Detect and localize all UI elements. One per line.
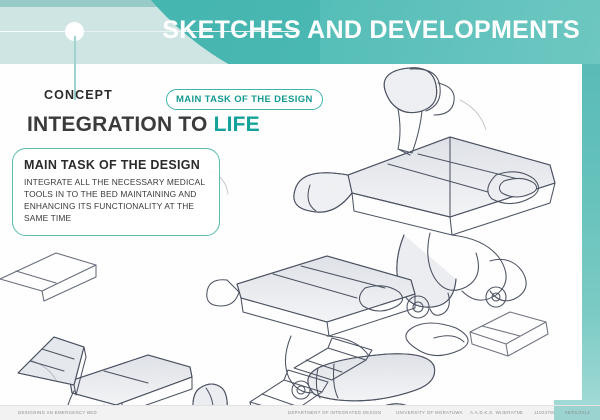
slide-footer: DESIGNING AN EMERGENCY BED DEPARTMENT OF…: [0, 405, 600, 420]
concept-title: INTEGRATION TO LIFE: [27, 113, 260, 137]
footer-date: 06/01/2014: [565, 410, 590, 415]
info-box-heading: MAIN TASK OF THE DESIGN: [24, 158, 208, 172]
main-task-badge: MAIN TASK OF THE DESIGN: [166, 89, 323, 110]
footer-university: UNIVERSITY OF MORATUWA: [396, 410, 463, 415]
footer-author: A.A.D.K.S. WIJERATNE: [470, 410, 523, 415]
concept-eyebrow: CONCEPT: [44, 88, 113, 102]
concept-title-accent: LIFE: [214, 113, 260, 136]
concept-title-main: INTEGRATION TO: [27, 113, 208, 136]
main-task-info-box: MAIN TASK OF THE DESIGN INTEGRATE ALL TH…: [12, 148, 220, 236]
footer-student-id: 110247M: [534, 410, 554, 415]
page-title: SKETCHES AND DEVELOPMENTS: [162, 16, 580, 45]
footer-department: DEPARTMENT OF INTEGRATED DESIGN: [288, 410, 381, 415]
info-box-body: INTEGRATE ALL THE NECESSARY MEDICAL TOOL…: [24, 177, 208, 225]
presentation-slide: SKETCHES AND DEVELOPMENTS CONCEPT MAIN T…: [0, 0, 600, 420]
slide-header: SKETCHES AND DEVELOPMENTS: [0, 0, 600, 64]
footer-project: DESIGNING AN EMERGENCY BED: [18, 410, 97, 415]
